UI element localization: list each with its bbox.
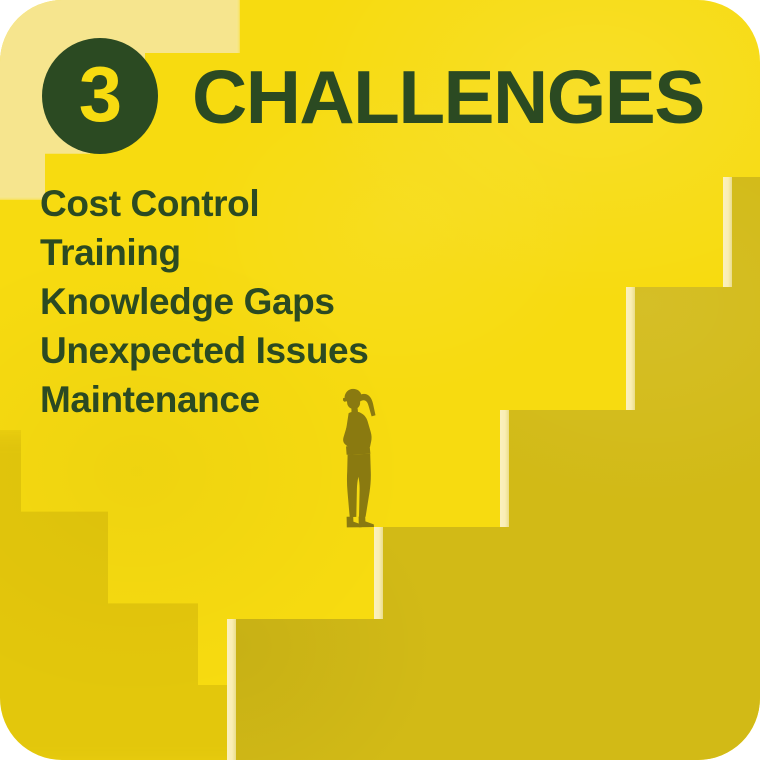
list-item: Knowledge Gaps	[40, 277, 368, 326]
list-item: Training	[40, 228, 368, 277]
list-item: Cost Control	[40, 179, 368, 228]
step-riser-highlight-1	[227, 619, 236, 760]
challenges-card: 3 CHALLENGES Cost Control Training Knowl…	[0, 0, 760, 760]
step-number-badge: 3	[42, 38, 158, 154]
challenges-list: Cost Control Training Knowledge Gaps Une…	[40, 179, 368, 424]
badge-number: 3	[79, 55, 121, 133]
list-item: Maintenance	[40, 375, 368, 424]
step-riser-highlight-5	[723, 177, 732, 287]
step-riser-highlight-2	[374, 527, 383, 619]
step-riser-highlight-3	[500, 410, 509, 527]
step-riser-highlight-4	[626, 287, 635, 410]
card-canvas: 3 CHALLENGES Cost Control Training Knowl…	[0, 0, 760, 760]
page-title: CHALLENGES	[192, 60, 704, 135]
list-item: Unexpected Issues	[40, 326, 368, 375]
